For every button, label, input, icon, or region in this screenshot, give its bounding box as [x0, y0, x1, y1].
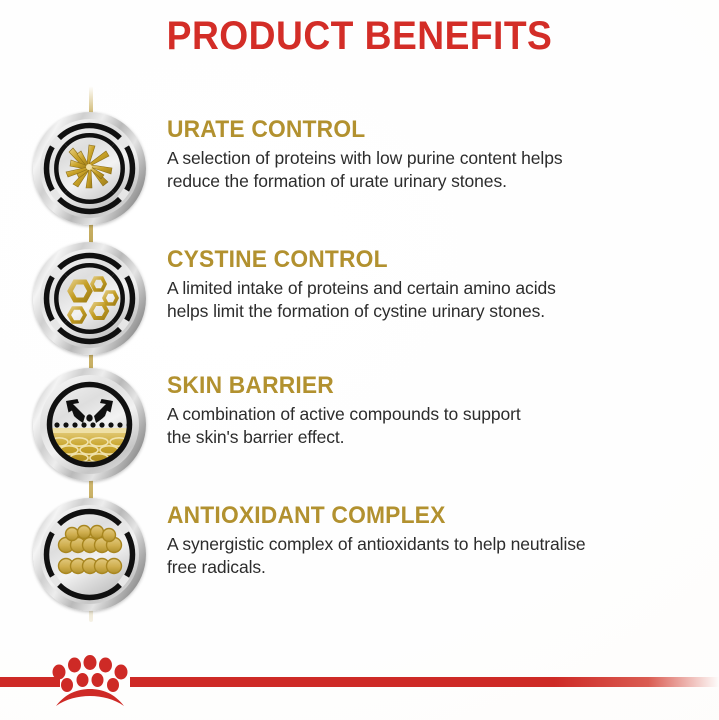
- benefit-body: A combination of active compounds to sup…: [167, 403, 712, 449]
- cystine-hexagon-glyph: [33, 242, 146, 355]
- skin-barrier-icon: [33, 368, 146, 481]
- royal-canin-crown-logo: [48, 654, 132, 710]
- benefit-icon-wrap: [33, 242, 146, 355]
- antioxidant-molecule-icon: [33, 498, 146, 611]
- page-title: PRODUCT BENEFITS: [25, 14, 694, 59]
- product-benefits-page: PRODUCT BENEFITS: [0, 0, 719, 720]
- footer-brand-bar: [0, 640, 719, 720]
- cystine-hexagon-icon: [33, 242, 146, 355]
- benefit-heading: SKIN BARRIER: [167, 372, 685, 399]
- benefit-body: A limited intake of proteins and certain…: [167, 277, 712, 323]
- benefit-text-block: CYSTINE CONTROL A limited intake of prot…: [167, 246, 712, 323]
- benefit-icon-wrap: [33, 112, 146, 225]
- skin-barrier-glyph: [33, 368, 146, 481]
- benefit-body: A selection of proteins with low purine …: [167, 147, 712, 193]
- benefit-heading: CYSTINE CONTROL: [167, 246, 685, 273]
- urate-crystal-icon: [33, 112, 146, 225]
- red-rule-right: [130, 677, 719, 687]
- antioxidant-molecule-glyph: [33, 498, 146, 611]
- benefit-heading: ANTIOXIDANT COMPLEX: [167, 502, 685, 529]
- benefit-icon-wrap: [33, 368, 146, 481]
- benefit-text-block: SKIN BARRIER A combination of active com…: [167, 372, 712, 449]
- benefit-body: A synergistic complex of antioxidants to…: [167, 533, 712, 579]
- benefit-text-block: ANTIOXIDANT COMPLEX A synergistic comple…: [167, 502, 712, 579]
- benefit-icon-wrap: [33, 498, 146, 611]
- benefit-text-block: URATE CONTROL A selection of proteins wi…: [167, 116, 712, 193]
- benefit-heading: URATE CONTROL: [167, 116, 685, 143]
- urate-crystal-glyph: [33, 112, 146, 225]
